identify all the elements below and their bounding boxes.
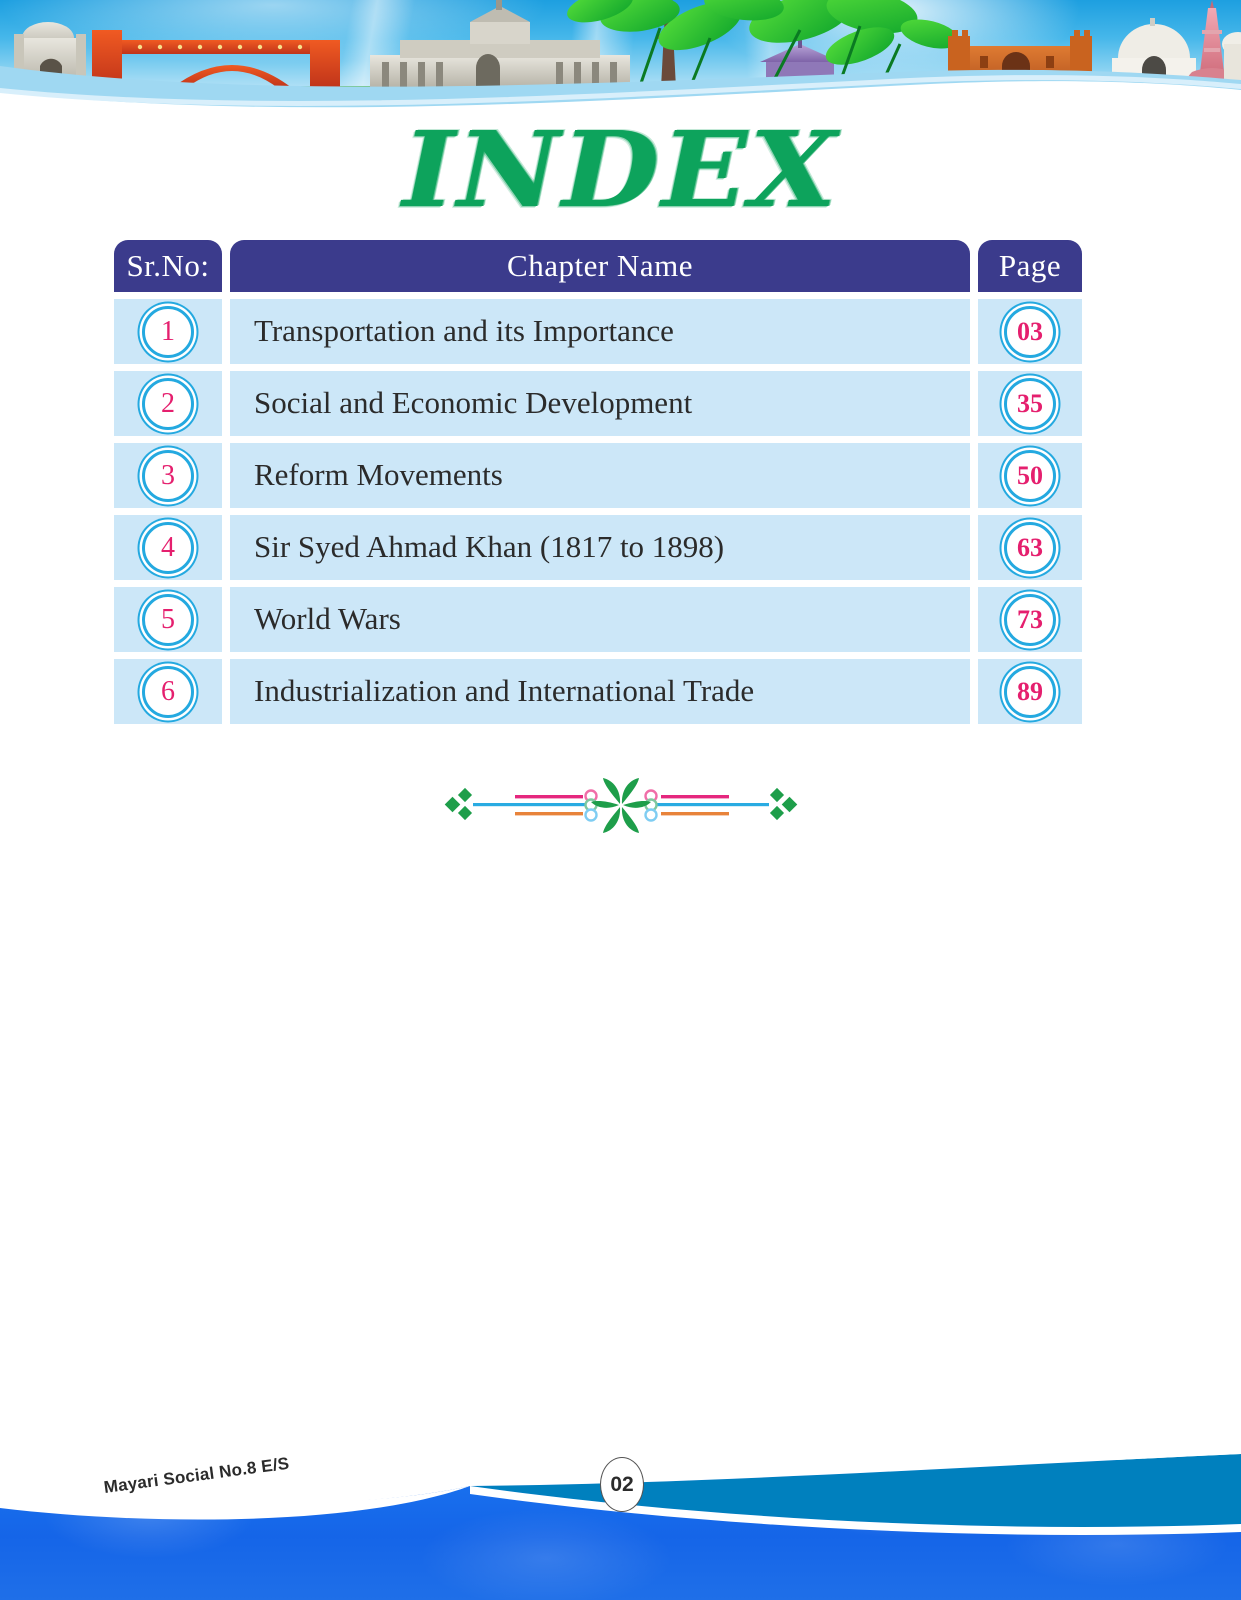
rule-cyan-right <box>657 803 769 806</box>
page-badge-circle: 63 <box>1004 522 1056 574</box>
column-header-chapter-name: Chapter Name <box>230 240 970 292</box>
page-number-value: 35 <box>1017 391 1043 417</box>
page-badge-circle: 89 <box>1004 666 1056 718</box>
rule-orange-right <box>661 812 729 815</box>
cell-page-number: 89 <box>978 659 1082 724</box>
chapter-title: Social and Economic Development <box>254 386 692 420</box>
cell-sr-no: 4 <box>114 515 222 580</box>
diamond-cluster-left <box>444 788 471 820</box>
page-badge-circle: 73 <box>1004 594 1056 646</box>
page-number-value: 63 <box>1017 535 1043 561</box>
sr-no-value: 3 <box>161 462 175 490</box>
table-row[interactable]: 4 Sir Syed Ahmad Khan (1817 to 1898) 63 <box>114 515 1082 580</box>
page-number-value: 73 <box>1017 607 1043 633</box>
page-badge-circle: 03 <box>1004 306 1056 358</box>
sr-no-value: 2 <box>161 390 175 418</box>
page-number-badge: 02 <box>600 1457 644 1512</box>
rule-pink-right <box>661 795 729 798</box>
sr-no-value: 4 <box>161 534 175 562</box>
index-table: Sr.No: Chapter Name Page 1 Transportatio… <box>114 240 1082 724</box>
chapter-title: World Wars <box>254 602 401 636</box>
cell-page-number: 50 <box>978 443 1082 508</box>
cell-sr-no: 2 <box>114 371 222 436</box>
sr-no-badge: 4 <box>142 522 194 574</box>
column-header-page: Page <box>978 240 1082 292</box>
page-number-value: 50 <box>1017 463 1043 489</box>
page-title-text: INDEX <box>402 118 838 222</box>
cell-chapter-name: Social and Economic Development <box>230 371 970 436</box>
page-badge-circle: 35 <box>1004 378 1056 430</box>
floral-divider <box>0 770 1241 840</box>
page-number-value: 89 <box>1017 679 1043 705</box>
column-header-sr-no: Sr.No: <box>114 240 222 292</box>
cell-chapter-name: Sir Syed Ahmad Khan (1817 to 1898) <box>230 515 970 580</box>
cell-page-number: 63 <box>978 515 1082 580</box>
cell-page-number: 35 <box>978 371 1082 436</box>
table-header-row: Sr.No: Chapter Name Page <box>114 240 1082 292</box>
rule-orange-left <box>515 812 583 815</box>
sr-no-badge: 1 <box>142 306 194 358</box>
header-banner <box>0 0 1241 118</box>
cell-sr-no: 3 <box>114 443 222 508</box>
cell-chapter-name: Industrialization and International Trad… <box>230 659 970 724</box>
sr-no-value: 1 <box>161 318 175 346</box>
diamond-cluster-right <box>769 788 796 820</box>
sr-no-value: 6 <box>161 678 175 706</box>
sr-no-badge: 6 <box>142 666 194 718</box>
table-row[interactable]: 6 Industrialization and International Tr… <box>114 659 1082 724</box>
chapter-title: Sir Syed Ahmad Khan (1817 to 1898) <box>254 530 724 564</box>
cell-chapter-name: Transportation and its Importance <box>230 299 970 364</box>
sr-no-badge: 5 <box>142 594 194 646</box>
page-number-value: 03 <box>1017 319 1043 345</box>
table-row[interactable]: 2 Social and Economic Development 35 <box>114 371 1082 436</box>
table-row[interactable]: 3 Reform Movements 50 <box>114 443 1082 508</box>
dot-stack-left <box>585 791 596 821</box>
cell-page-number: 03 <box>978 299 1082 364</box>
cell-page-number: 73 <box>978 587 1082 652</box>
index-page: INDEX Sr.No: Chapter Name Page 1 Transpo… <box>0 0 1241 1600</box>
page-badge-circle: 50 <box>1004 450 1056 502</box>
page-title: INDEX <box>0 118 1241 222</box>
cell-sr-no: 5 <box>114 587 222 652</box>
floral-divider-icon <box>441 770 801 840</box>
rule-cyan-left <box>473 803 585 806</box>
cell-chapter-name: Reform Movements <box>230 443 970 508</box>
cell-chapter-name: World Wars <box>230 587 970 652</box>
sr-no-badge: 2 <box>142 378 194 430</box>
table-row[interactable]: 1 Transportation and its Importance 03 <box>114 299 1082 364</box>
footer-band-teal <box>470 1454 1241 1527</box>
sr-no-badge: 3 <box>142 450 194 502</box>
four-petal-flower-icon <box>591 778 651 833</box>
table-row[interactable]: 5 World Wars 73 <box>114 587 1082 652</box>
cell-sr-no: 6 <box>114 659 222 724</box>
cell-sr-no: 1 <box>114 299 222 364</box>
chapter-title: Reform Movements <box>254 458 503 492</box>
chapter-title: Transportation and its Importance <box>254 314 674 348</box>
sr-no-value: 5 <box>161 606 175 634</box>
dot-stack-right <box>645 791 656 821</box>
chapter-title: Industrialization and International Trad… <box>254 674 754 708</box>
rule-pink-left <box>515 795 583 798</box>
